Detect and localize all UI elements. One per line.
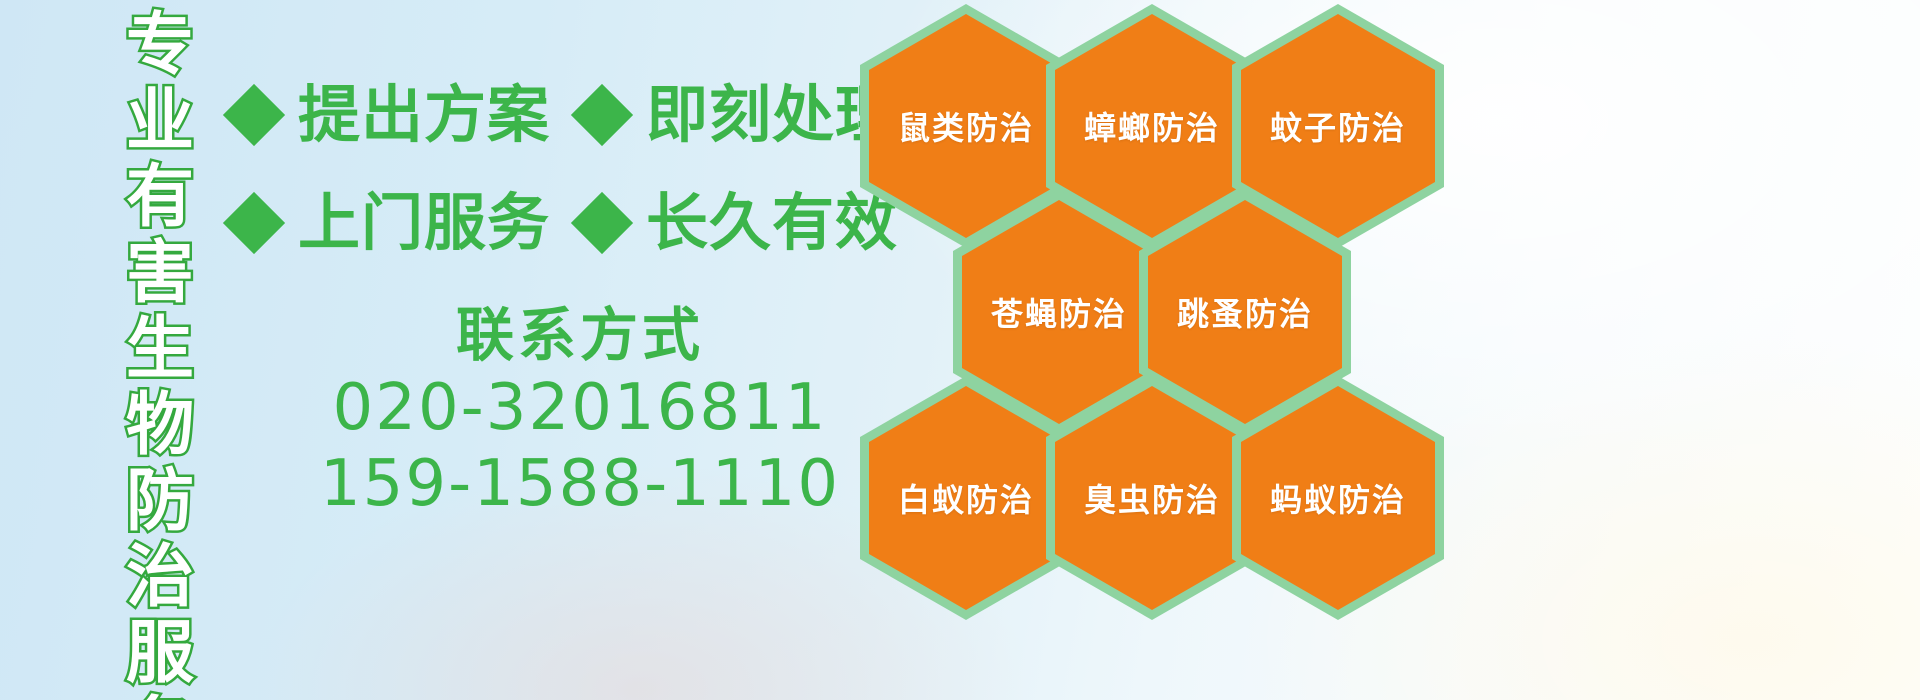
hex-label: 臭虫防治 [1084, 475, 1220, 521]
diamond-icon [571, 84, 633, 146]
hex-label: 蟑螂防治 [1084, 103, 1220, 149]
vertical-title-char: 服 [126, 616, 194, 692]
diamond-icon [571, 192, 633, 254]
phone-number-mobile[interactable]: 159-1588-1110 [300, 446, 860, 522]
feature-row: 提出方案 即刻处理 [228, 84, 924, 146]
feature-item: 上门服务 [228, 192, 576, 254]
feature-row: 上门服务 长久有效 [228, 192, 924, 254]
hex-label: 苍蝇防治 [991, 289, 1127, 335]
phone-number-landline[interactable]: 020-32016811 [300, 370, 860, 446]
hex-label: 蚊子防治 [1270, 103, 1406, 149]
vertical-title-char: 物 [126, 388, 194, 464]
hex-label: 跳蚤防治 [1177, 289, 1313, 335]
feature-label: 上门服务 [298, 192, 550, 254]
contact-block: 联系方式 020-32016811 159-1588-1110 [300, 300, 860, 522]
vertical-title-char: 生 [126, 312, 194, 388]
hex-label: 白蚁防治 [898, 475, 1034, 521]
vertical-title-char: 务 [126, 692, 194, 700]
promo-banner: 专 业 有 害 生 物 防 治 服 务 提出方案 即刻处理 上门服务 长久有效 [0, 0, 1920, 700]
vertical-title-char: 防 [126, 464, 194, 540]
contact-heading: 联系方式 [300, 300, 860, 370]
vertical-title-char: 治 [126, 540, 194, 616]
hex-label: 蚂蚁防治 [1270, 475, 1406, 521]
vertical-title-char: 专 [126, 8, 194, 84]
hex-label: 鼠类防治 [898, 103, 1034, 149]
vertical-title-char: 害 [126, 236, 194, 312]
vertical-title-char: 有 [126, 160, 194, 236]
feature-label: 提出方案 [298, 84, 550, 146]
diamond-icon [223, 192, 285, 254]
diamond-icon [223, 84, 285, 146]
feature-item: 提出方案 [228, 84, 576, 146]
vertical-title: 专 业 有 害 生 物 防 治 服 务 [112, 8, 208, 700]
vertical-title-char: 业 [126, 84, 194, 160]
service-hex-grid: 鼠类防治 蟑螂防治 蚊子防治 苍蝇防治 跳蚤防治 白蚁防治 [860, 0, 1480, 700]
